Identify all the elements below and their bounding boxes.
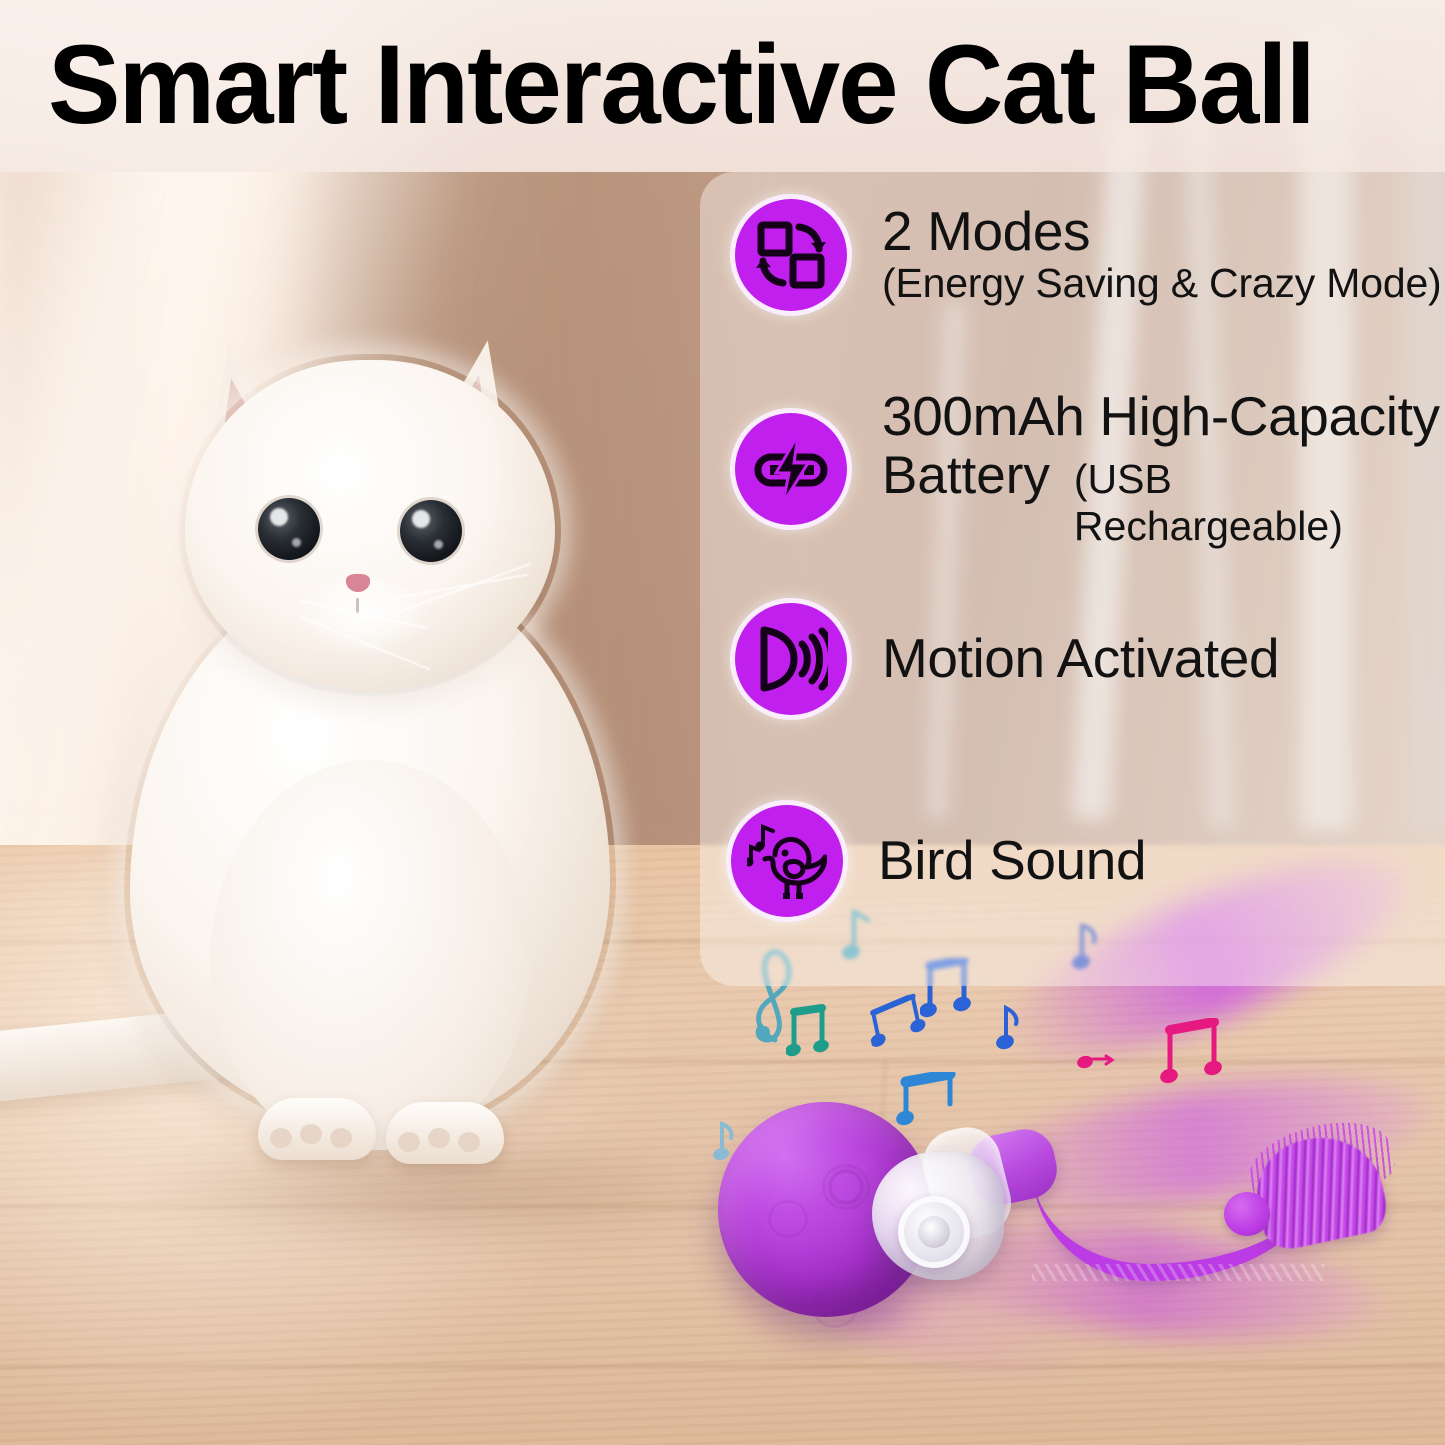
- motion-sensor-icon: [730, 598, 852, 720]
- cat-front-paw: [258, 1098, 376, 1160]
- feature-item-motion[interactable]: Motion Activated: [730, 598, 1279, 720]
- feature-text-modes: 2 Modes (Energy Saving & Crazy Mode): [882, 203, 1442, 306]
- page-title: Smart Interactive Cat Ball: [48, 26, 1348, 144]
- product-wheel-core: [918, 1216, 950, 1248]
- feature-title: 2 Modes: [882, 203, 1442, 260]
- cat-chest: [210, 760, 530, 1150]
- feature-item-bird[interactable]: Bird Sound: [726, 800, 1146, 922]
- feature-subtitle: (Energy Saving & Crazy Mode): [882, 261, 1442, 307]
- feature-text-motion: Motion Activated: [882, 630, 1279, 687]
- product-marketing-image: 2 Modes (Energy Saving & Crazy Mode) 300…: [0, 0, 1445, 1445]
- feature-title: Motion Activated: [882, 630, 1279, 687]
- eighth-note-icon: [996, 1002, 1028, 1054]
- cat-eye-highlight: [292, 538, 301, 547]
- feature-list: 2 Modes (Energy Saving & Crazy Mode) 300…: [700, 172, 1445, 986]
- beamed-eighth-notes-icon: [1160, 1018, 1222, 1092]
- cat-eye-highlight: [270, 508, 288, 526]
- two-modes-swap-icon: [730, 194, 852, 316]
- feature-item-battery[interactable]: 300mAh High-Capacity Battery (USB Rechar…: [730, 388, 1445, 550]
- quarter-note-icon: [1076, 1046, 1116, 1076]
- battery-bolt-icon: [730, 408, 852, 530]
- feature-subtitle-note: (USB Rechargeable): [1074, 456, 1445, 550]
- cat-front-paw: [386, 1102, 504, 1164]
- bird-sound-icon: [726, 800, 848, 922]
- cat-photo-subject: [0, 330, 740, 1230]
- feature-subtitle-main: Battery: [882, 445, 1050, 506]
- feature-title: 300mAh High-Capacity: [882, 388, 1445, 445]
- beamed-eighth-notes-icon: [786, 1004, 830, 1060]
- cat-eye-highlight: [412, 510, 430, 528]
- cat-muzzle: [300, 580, 428, 658]
- cat-eye-highlight: [434, 540, 443, 549]
- feature-item-modes[interactable]: 2 Modes (Energy Saving & Crazy Mode): [730, 194, 1442, 316]
- beamed-eighth-notes-icon: [863, 993, 931, 1056]
- feature-text-battery: 300mAh High-Capacity Battery (USB Rechar…: [882, 388, 1445, 550]
- embossed-paw-icon: [812, 1288, 858, 1328]
- beamed-eighth-notes-icon: [896, 1072, 958, 1134]
- feature-title: Bird Sound: [878, 832, 1146, 889]
- eighth-note-icon: [712, 1118, 742, 1166]
- cat-eye-left: [258, 498, 320, 560]
- cat-eye-right: [400, 500, 462, 562]
- embossed-sun-icon: [768, 1200, 808, 1238]
- feature-text-bird: Bird Sound: [878, 832, 1146, 889]
